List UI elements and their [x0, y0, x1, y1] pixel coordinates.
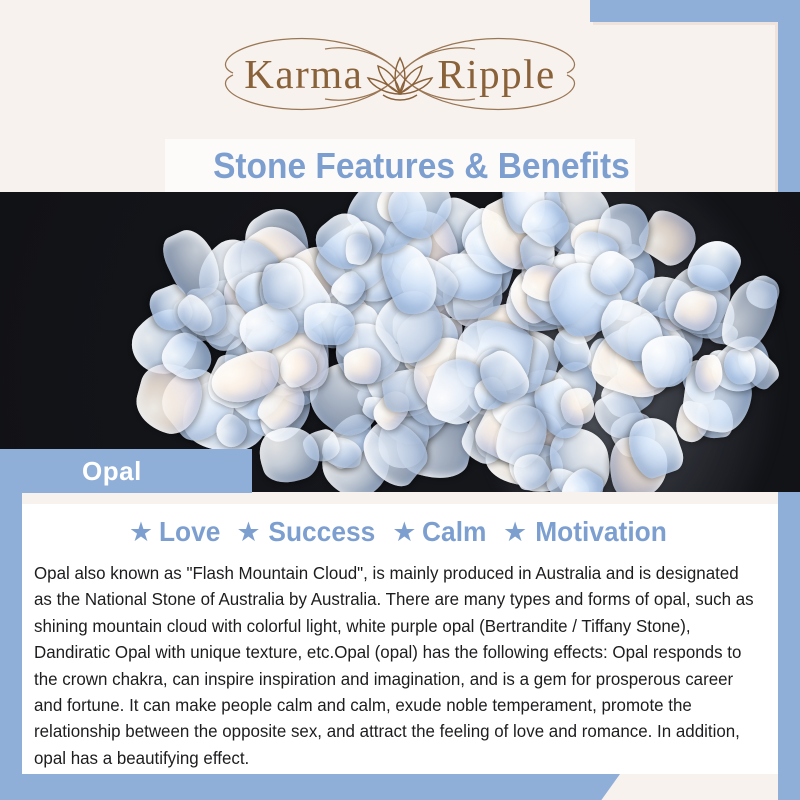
benefits-list: ★Love★Success★Calm★Motivation — [22, 516, 778, 548]
brand-word-left: Karma — [244, 54, 363, 95]
star-icon: ★ — [236, 519, 260, 546]
product-photo — [0, 192, 800, 492]
title-banner: Stone Features & Benefits — [0, 139, 800, 197]
star-icon: ★ — [503, 519, 527, 546]
star-icon: ★ — [129, 519, 153, 546]
star-icon: ★ — [392, 519, 416, 546]
lotus-flower-icon — [365, 45, 435, 103]
infographic-page: Karma Ripple — [0, 0, 800, 800]
frame-band-bottom — [0, 774, 620, 800]
benefit-label: Love — [159, 516, 220, 548]
stone-name-label: Opal — [82, 456, 142, 487]
stone-name-badge: Opal — [0, 449, 252, 493]
stone-description-text: Opal also known as "Flash Mountain Cloud… — [34, 560, 759, 771]
brand-word-right: Ripple — [437, 54, 555, 95]
benefit-label: Success — [268, 516, 375, 548]
brand-logo: Karma Ripple — [0, 20, 800, 128]
opal-stone — [303, 302, 355, 345]
card-top-cream-strip — [22, 492, 778, 504]
benefit-item: ★Motivation — [503, 516, 671, 548]
frame-band-top-right — [590, 0, 800, 22]
page-title: Stone Features & Benefits — [213, 145, 587, 187]
benefit-item: ★Calm — [392, 516, 489, 548]
benefit-label: Calm — [423, 516, 487, 548]
benefit-item: ★Love — [129, 516, 223, 548]
opal-stone — [343, 347, 382, 385]
benefit-item: ★Success — [236, 516, 378, 548]
opal-stone-pile — [0, 192, 800, 492]
benefit-label: Motivation — [535, 516, 667, 548]
